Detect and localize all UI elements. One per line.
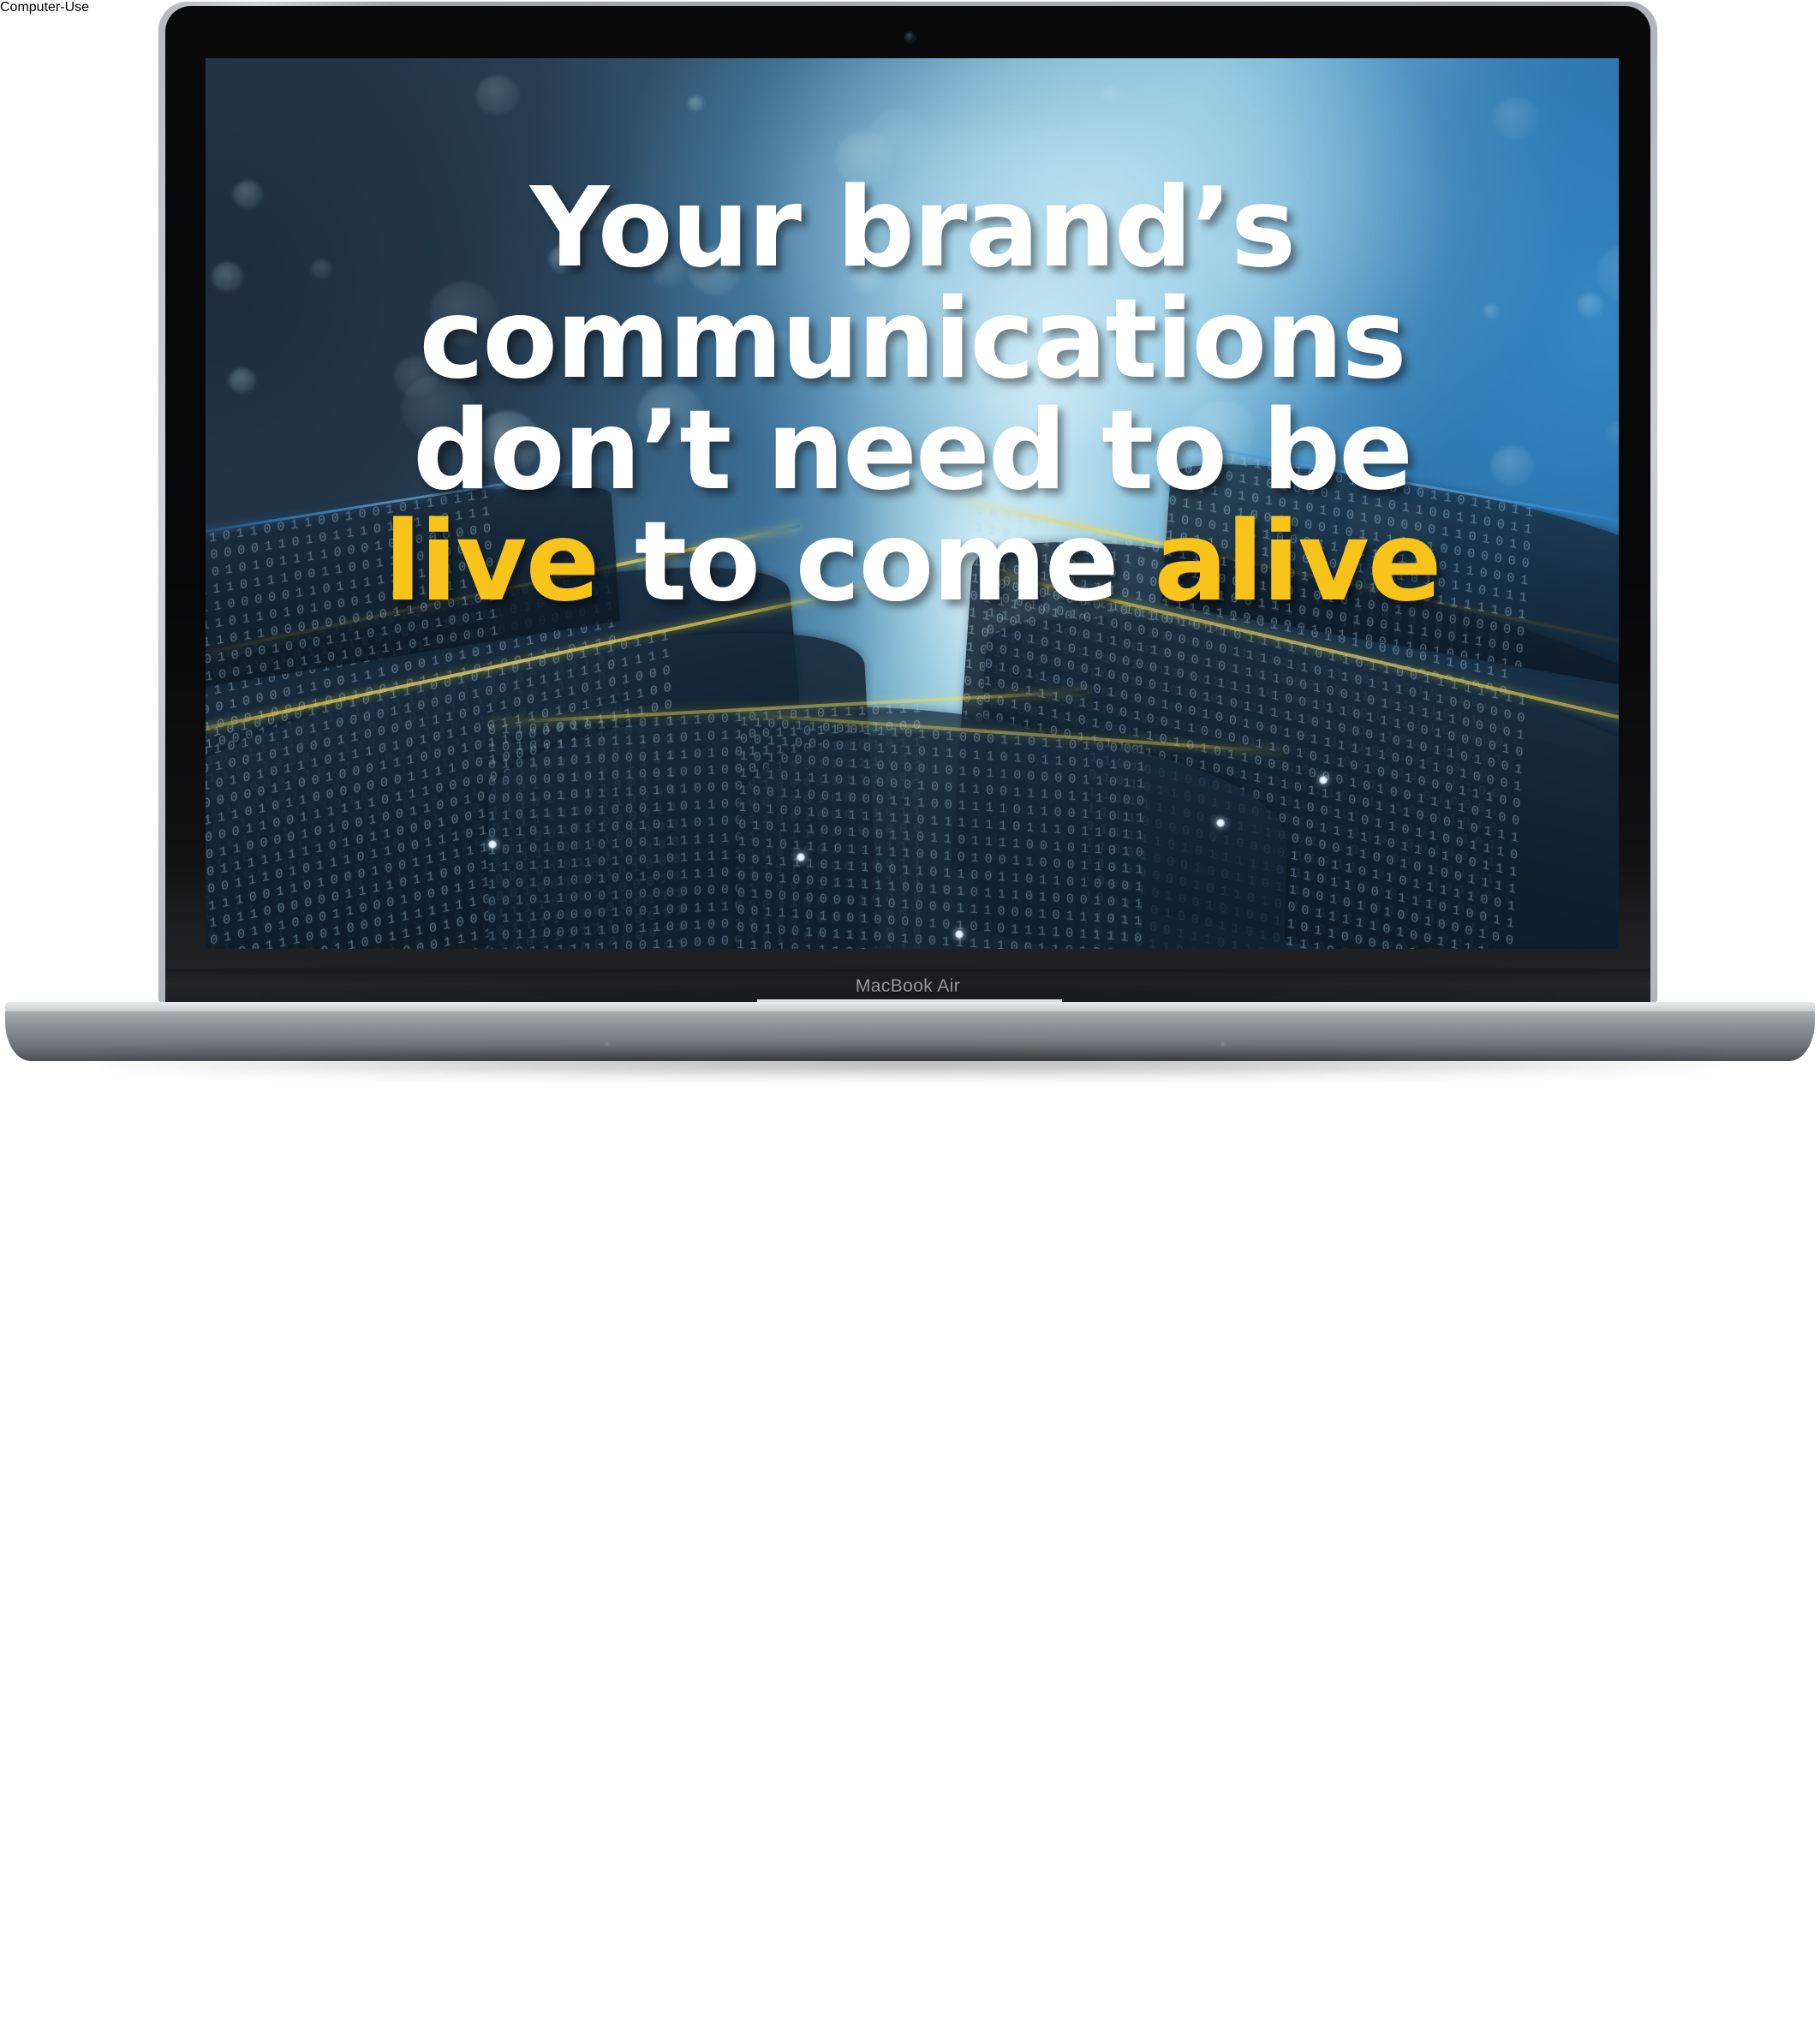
bokeh-dot [1311, 325, 1340, 352]
bokeh-dot [430, 282, 498, 344]
bokeh-dot [652, 254, 687, 286]
bokeh-dot [1049, 316, 1074, 338]
base-screw-right [1220, 1041, 1226, 1047]
bokeh-dot [402, 375, 474, 441]
bokeh-dot [851, 264, 885, 294]
data-node [955, 930, 964, 939]
bokeh-dot [212, 262, 244, 292]
data-node [1216, 819, 1225, 827]
bokeh-dot [229, 368, 256, 394]
screen-display[interactable]: 11100011100010110111010110110100010 0110… [206, 58, 1619, 949]
data-node [1319, 776, 1328, 784]
bokeh-dot [311, 259, 332, 279]
bokeh-dot [1210, 231, 1282, 298]
bokeh-dot [835, 131, 894, 185]
binary-data-ribbons: 11100011100010110111010110110100010 0110… [206, 450, 1619, 949]
bokeh-dot [984, 390, 1010, 414]
bokeh-dot [1483, 304, 1500, 319]
bokeh-dot [1164, 363, 1229, 423]
bokeh-dot [549, 246, 577, 272]
bokeh-dot [689, 247, 741, 295]
binary-digits: 110011000111010100011011010001 001100001… [733, 713, 1288, 949]
base-screw-left [605, 1041, 611, 1047]
macbook-air-device: 11100011100010110111010110110100010 0110… [0, 0, 1820, 1071]
laptop-base-highlight [10, 2023, 1820, 2027]
data-node [797, 853, 805, 861]
bokeh-dot [768, 330, 790, 349]
bokeh-dot [1100, 84, 1124, 106]
bokeh-dot [1577, 293, 1604, 318]
bokeh-dot [882, 330, 917, 362]
webcam-icon [905, 33, 915, 42]
data-node [488, 840, 497, 849]
bokeh-dot [1607, 421, 1619, 449]
device-drop-shadow [94, 1052, 1726, 1074]
bokeh-dot [1493, 98, 1539, 140]
bokeh-dot [994, 355, 1032, 390]
bokeh-dot [895, 265, 964, 328]
bokeh-dot [233, 181, 263, 208]
bokeh-dot [579, 200, 612, 230]
bokeh-dot [637, 384, 704, 445]
data-ribbon: 110011000111010100011011010001 001100001… [733, 713, 1288, 949]
bokeh-dot [476, 75, 519, 115]
bokeh-dot [688, 96, 704, 110]
bokeh-dot [1596, 246, 1619, 302]
